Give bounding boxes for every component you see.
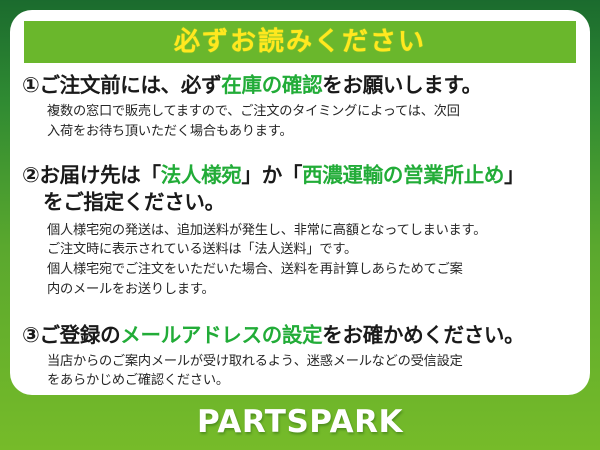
notice-item-2-heading-part-2: 」か「 <box>242 163 303 187</box>
notice-item-3-heading-highlight: メールアドレスの設定 <box>120 323 322 347</box>
notice-item-1-body-line-1: 入荷をお待ち頂いただく場合もあります。 <box>47 122 578 142</box>
header-bar: 必ずお読みください <box>24 21 576 63</box>
notice-item-3-body-line-1: をあらかじめご確認ください。 <box>47 371 578 391</box>
notice-item-2-body-line-3: 内のメールをお送りします。 <box>47 280 578 300</box>
notice-item-2-heading-highlight-2: 西濃運輸の営業所止め <box>302 163 504 187</box>
notice-item-1-number: ① <box>22 73 39 97</box>
notice-item-2-heading-highlight-1: 法人様宛 <box>161 163 242 187</box>
notice-item-3-heading: ③ご登録のメールアドレスの設定をお確かめください。 <box>22 322 578 349</box>
notice-item-1-heading-part-0: ご注文前には、必ず <box>39 73 221 97</box>
notice-item-1-heading-part-2: をお願いします。 <box>322 73 482 97</box>
notice-item-2-body-line-2: 個人様宅宛でご注文をいただいた場合、送料を再計算しあらためてご案 <box>47 260 578 280</box>
notice-item-2-heading-line2: をご指定ください。 <box>22 189 578 215</box>
notice-item-3-heading-part-2: をお確かめください。 <box>322 323 524 347</box>
notice-item-2-heading: ②お届け先は「法人様宛」か「西濃運輸の営業所止め」 <box>22 162 578 189</box>
notice-item-2-body-line-1: ご注文時に表示されている送料は「法人送料」です。 <box>47 240 578 260</box>
brand-logo-partspark: PARTSPARK <box>197 407 403 438</box>
notice-item-3-body-line-0: 当店からのご案内メールが受け取れるよう、迷惑メールなどの受信設定 <box>47 352 578 372</box>
notice-item-3-body: 当店からのご案内メールが受け取れるよう、迷惑メールなどの受信設定 をあらかじめご… <box>22 352 578 392</box>
notice-banner: 必ずお読みください ①ご注文前には、必ず在庫の確認をお願いします。 複数の窓口で… <box>0 0 600 450</box>
notice-item-2-body: 個人様宅宛の発送は、追加送料が発生し、非常に高額となってしまいます。 ご注文時に… <box>22 221 578 300</box>
notice-item-1-heading-highlight: 在庫の確認 <box>221 73 322 97</box>
notice-item-1: ①ご注文前には、必ず在庫の確認をお願いします。 複数の窓口で販売してますので、ご… <box>10 72 590 141</box>
notice-item-3-heading-part-0: ご登録の <box>39 323 120 347</box>
notice-item-2-body-line-0: 個人様宅宛の発送は、追加送料が発生し、非常に高額となってしまいます。 <box>47 221 578 241</box>
notice-items-list: ①ご注文前には、必ず在庫の確認をお願いします。 複数の窓口で販売してますので、ご… <box>10 72 590 391</box>
notice-item-3: ③ご登録のメールアドレスの設定をお確かめください。 当店からのご案内メールが受け… <box>10 322 590 391</box>
footer: PARTSPARK <box>0 395 600 450</box>
notice-item-1-heading: ①ご注文前には、必ず在庫の確認をお願いします。 <box>22 72 578 99</box>
notice-item-2: ②お届け先は「法人様宛」か「西濃運輸の営業所止め」 をご指定ください。 個人様宅… <box>10 162 590 299</box>
notice-card: 必ずお読みください ①ご注文前には、必ず在庫の確認をお願いします。 複数の窓口で… <box>10 10 590 395</box>
notice-item-3-number: ③ <box>22 323 39 347</box>
notice-item-2-heading-part-4: 」 <box>504 163 524 187</box>
header-title: 必ずお読みください <box>174 29 426 55</box>
notice-item-1-body: 複数の窓口で販売してますので、ご注文のタイミングによっては、次回 入荷をお待ち頂… <box>22 102 578 142</box>
notice-item-1-body-line-0: 複数の窓口で販売してますので、ご注文のタイミングによっては、次回 <box>47 102 578 122</box>
notice-item-2-number: ② <box>22 163 39 187</box>
notice-item-2-heading-part-0: お届け先は「 <box>39 163 160 187</box>
